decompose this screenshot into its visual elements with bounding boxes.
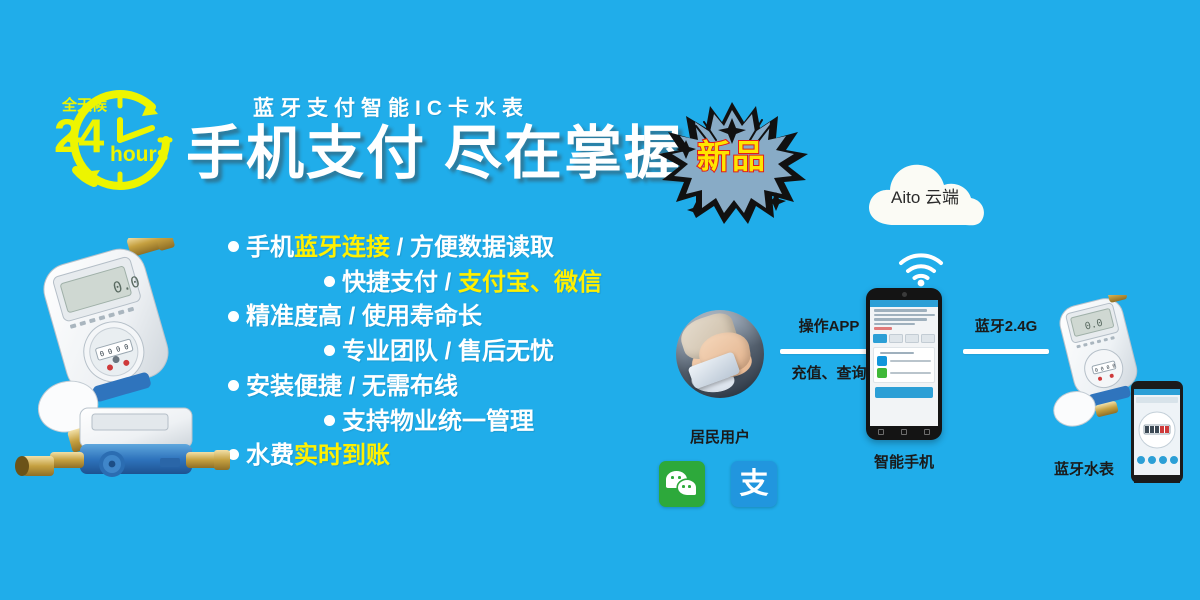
smartphone-device [866,288,942,440]
nav-home-icon [901,429,907,435]
bullet-dot-icon [324,345,335,356]
phone-tab-chips [873,334,935,343]
bullet-item: 专业团队 / 售后无忧 [228,337,698,368]
wechat-app-icon[interactable] [659,461,705,507]
bullet-pre: 手机 [246,234,294,261]
bullet-post: / 方便数据读取 [390,234,554,261]
resident-user-photo [676,310,764,398]
badge-number: 24 [54,112,102,159]
bullet-dot-icon [324,415,335,426]
bullet-item: 安装便捷 / 无需布线 [228,372,698,403]
headline-part-1: 手机支付 [186,121,426,186]
bullet-highlight: 实时到账 [294,442,390,469]
nav-back-icon [878,429,884,435]
phone-nav-bar [870,427,938,436]
alipay-app-icon[interactable]: 支 [731,461,777,507]
cloud-label: Aito 云端 [860,183,990,208]
payment-option-alipay [877,356,931,366]
bullet-highlight: 蓝牙连接 [294,234,390,261]
bullet-item: 精准度高 / 使用寿命长 [228,302,698,333]
wechat-icon [877,368,887,378]
nav-recents-icon [924,429,930,435]
phone-payment-card [873,347,935,384]
bullet-pre: 快捷支付 / [342,269,458,296]
phone-confirm-pay-button[interactable] [875,387,933,398]
bullet-dot-icon [324,276,335,287]
feature-bullet-list: 手机蓝牙连接 / 方便数据读取 快捷支付 / 支付宝、微信 精准度高 / 使用寿… [228,233,698,476]
caption-smartphone: 智能手机 [858,455,950,470]
alipay-icon [877,356,887,366]
caption-bluetooth-meter: 蓝牙水表 [1028,462,1140,477]
bullet-pre: 安装便捷 / 无需布线 [246,373,458,400]
payment-option-wechat [877,368,931,378]
bullet-pre: 支持物业统一管理 [342,408,534,435]
cloud-node: Aito 云端 [860,155,990,237]
payment-app-icons: 支 [659,461,785,509]
phone-camera-icon [902,292,907,297]
product-water-meters-image: 0.0 0 0 0 0 [10,238,245,510]
headline-part-2: 尽在掌握 [444,121,684,186]
connector-line-phone-to-meter [963,349,1049,354]
bullet-pre: 精准度高 / 使用寿命长 [246,303,482,330]
phone-screen [870,300,938,426]
bullet-item: 快捷支付 / 支付宝、微信 [228,268,698,299]
bullet-item: 手机蓝牙连接 / 方便数据读取 [228,233,698,264]
wechat-bubble-small [678,480,696,495]
phone-status-bar [870,300,938,307]
caption-resident-user: 居民用户 [660,430,780,445]
bullet-highlight: 支付宝、微信 [458,269,602,296]
new-product-label: 新品 [652,140,812,173]
badge-unit: hours [110,144,168,165]
water-meter-products-icon: 0.0 0 0 0 0 [10,238,245,510]
bullet-item: 支持物业统一管理 [228,407,698,438]
flow-label-operate-app: 操作APP [780,319,878,334]
bullet-pre: 专业团队 / 售后无忧 [342,338,554,365]
connector-line-user-to-phone [780,349,878,354]
bullet-item: 水费实时到账 [228,441,698,472]
all-weather-24h-badge: 全天候 24 hours [48,84,184,196]
new-product-badge: 新品 [652,96,812,226]
flow-label-bluetooth: 蓝牙2.4G [963,319,1049,334]
banner-headline: 手机支付尽在掌握 [186,122,684,187]
banner-subtitle: 蓝牙支付智能IC卡水表 [253,92,529,122]
wifi-icon [895,248,947,288]
alipay-label: 支 [731,461,777,507]
bullet-pre: 水费 [246,442,294,469]
banner-canvas: 全天候 24 hours 蓝牙支付智能IC卡水表 手机支付尽在掌握 新品 [0,0,1200,600]
